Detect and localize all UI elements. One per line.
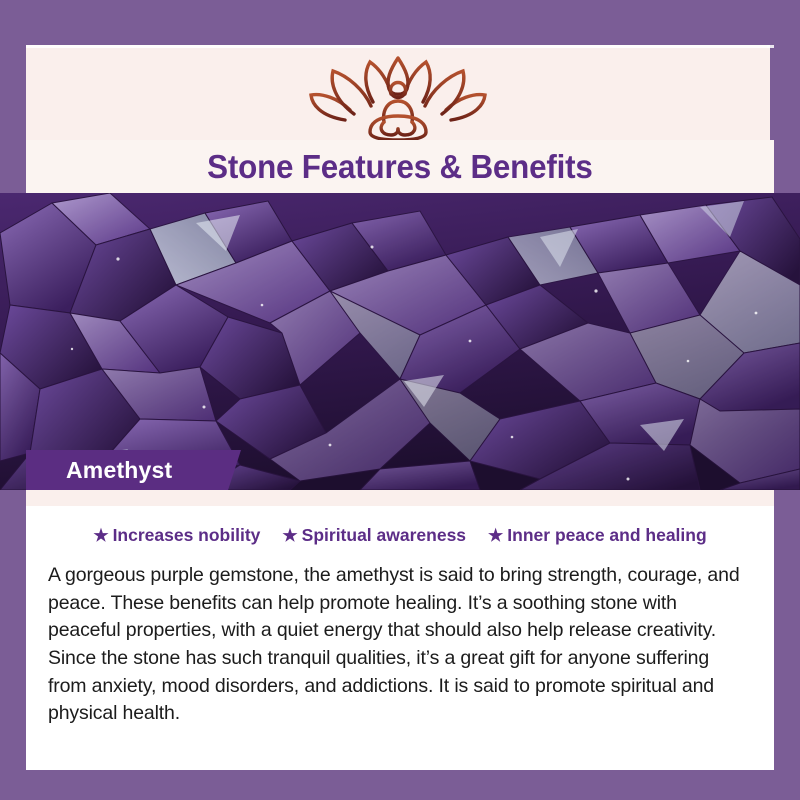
feature-label-1: Increases nobility	[113, 525, 261, 546]
amethyst-crystal-cluster-photo	[0, 193, 800, 490]
feature-label-3: Inner peace and healing	[507, 525, 706, 546]
frame-border-top	[0, 0, 800, 45]
feature-label-2: Spiritual awareness	[302, 525, 466, 546]
star-icon: ★	[488, 527, 503, 544]
separator-strip	[26, 490, 774, 506]
feature-item-2: ★ Spiritual awareness	[282, 525, 466, 546]
frame-border-bottom	[0, 770, 800, 800]
feature-item-3: ★ Inner peace and healing	[488, 525, 707, 546]
lotus-meditation-icon	[298, 50, 498, 142]
title-band: Stone Features & Benefits	[26, 140, 774, 194]
feature-list: ★ Increases nobility ★ Spiritual awarene…	[48, 518, 752, 552]
feature-item-1: ★ Increases nobility	[93, 525, 260, 546]
stone-name-banner: Amethyst	[26, 450, 241, 490]
stone-features-infographic: BUDDHA STONES Stone Features & Benefits	[0, 0, 800, 800]
star-icon: ★	[93, 527, 108, 544]
star-icon: ★	[282, 527, 297, 544]
stone-description: A gorgeous purple gemstone, the amethyst…	[48, 562, 752, 728]
frame-border-left-upper	[0, 0, 26, 196]
frame-border-left-lower	[0, 490, 26, 800]
page-title: Stone Features & Benefits	[207, 148, 592, 186]
stone-name-label: Amethyst	[66, 457, 172, 484]
content-card: ★ Increases nobility ★ Spiritual awarene…	[26, 506, 774, 770]
